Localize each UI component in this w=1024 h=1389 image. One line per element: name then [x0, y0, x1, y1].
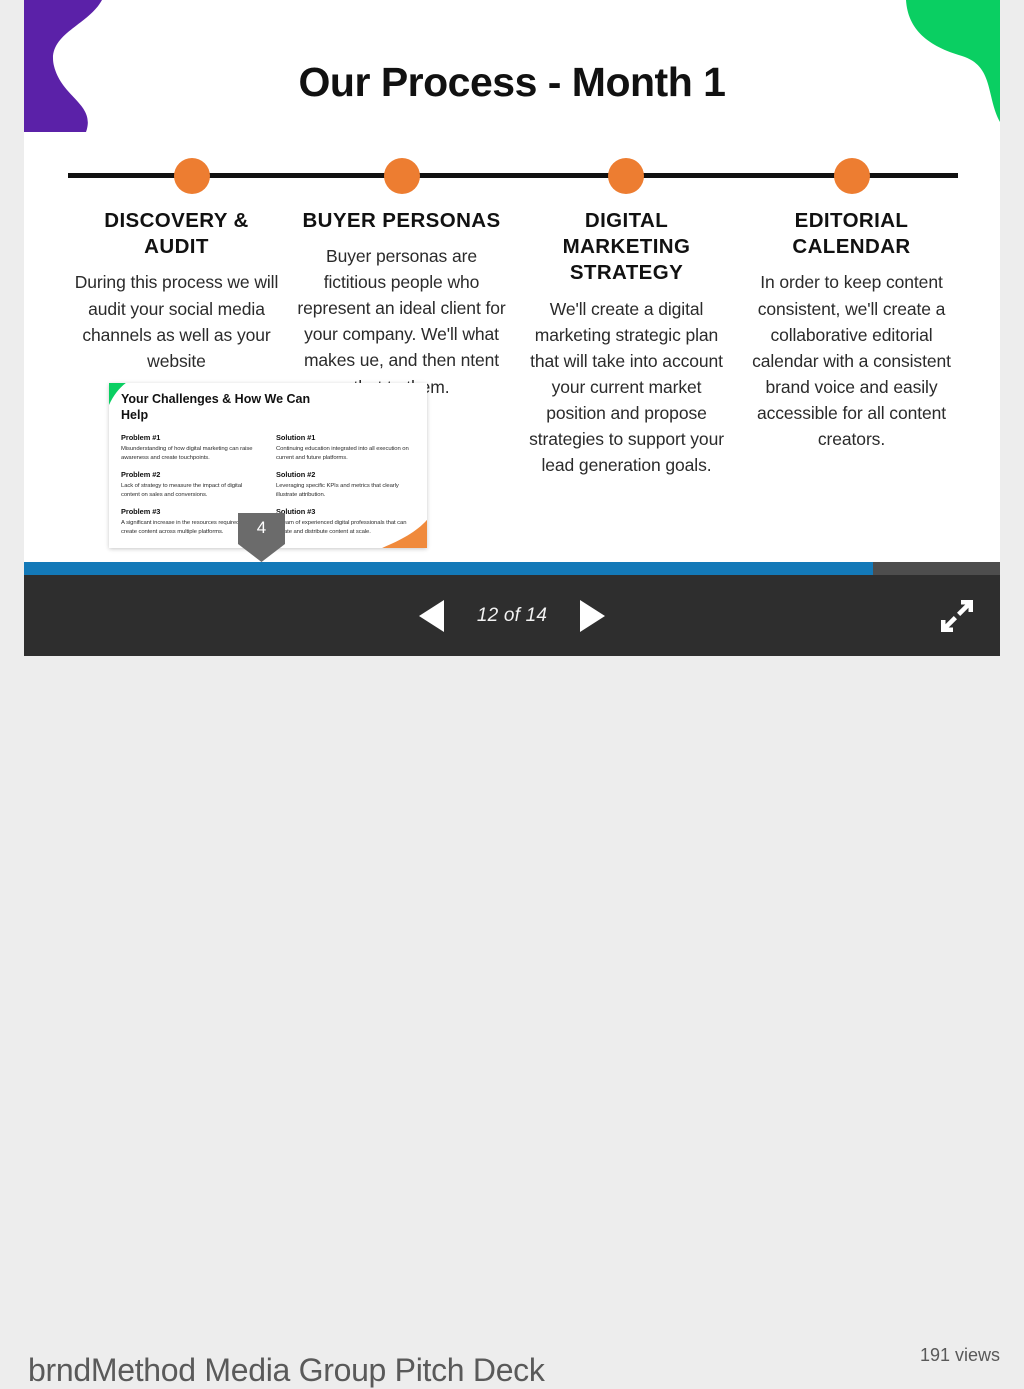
column-heading: BUYER PERSONAS [297, 208, 506, 234]
slide-title: Our Process - Month 1 [24, 60, 1000, 106]
solution-text: Continuing education integrated into all… [276, 445, 417, 463]
timeline-dot-3 [608, 158, 644, 194]
solution-text: A team of experienced digital profession… [276, 519, 417, 537]
progress-bar-track[interactable] [24, 562, 1000, 575]
column-body: In order to keep content consistent, we'… [747, 269, 956, 451]
progress-bar-fill [24, 562, 873, 575]
previous-slide-icon[interactable] [419, 600, 444, 632]
fullscreen-expand-icon [940, 599, 974, 633]
slide-navigation: 12 of 14 [24, 575, 1000, 656]
process-column-editorial-calendar: EDITORIAL CALENDAR In order to keep cont… [739, 208, 964, 478]
column-body: We'll create a digital marketing strateg… [522, 296, 731, 478]
slide-number-pin: 4 [238, 513, 285, 562]
solution-label: Solution #1 [276, 433, 417, 442]
column-heading: DIGITAL MARKETING STRATEGY [522, 208, 731, 287]
thumbnail-title: Your Challenges & How We Can Help [121, 392, 321, 424]
timeline-dot-2 [384, 158, 420, 194]
solution-label: Solution #3 [276, 507, 417, 516]
thumbnail-solutions-column: Solution #1 Continuing education integra… [276, 433, 417, 537]
problem-text: Lack of strategy to measure the impact o… [121, 482, 262, 500]
problem-text: Misunderstanding of how digital marketin… [121, 445, 262, 463]
solution-text: Leveraging specific KPIs and metrics tha… [276, 482, 417, 500]
fullscreen-button[interactable] [940, 599, 974, 633]
timeline-dot-1 [174, 158, 210, 194]
next-slide-icon[interactable] [580, 600, 605, 632]
process-column-digital-marketing-strategy: DIGITAL MARKETING STRATEGY We'll create … [514, 208, 739, 478]
timeline-dot-4 [834, 158, 870, 194]
slide-player: Our Process - Month 1 DISCOVERY & AUDIT … [24, 0, 1000, 656]
problem-label: Problem #1 [121, 433, 262, 442]
slide-canvas[interactable]: Our Process - Month 1 DISCOVERY & AUDIT … [24, 0, 1000, 562]
page-indicator: 12 of 14 [466, 605, 558, 627]
column-heading: DISCOVERY & AUDIT [72, 208, 281, 260]
player-controls-bar: 12 of 14 [24, 575, 1000, 656]
pin-number-label: 4 [238, 518, 285, 538]
column-body: Buyer personas are fictitious people who… [297, 243, 506, 399]
problem-label: Problem #2 [121, 470, 262, 479]
column-heading: EDITORIAL CALENDAR [747, 208, 956, 260]
solution-label: Solution #2 [276, 470, 417, 479]
views-count: 191 views [920, 1345, 1000, 1366]
deck-footer: brndMethod Media Group Pitch Deck 191 vi… [0, 656, 1024, 762]
column-body: During this process we will audit your s… [72, 269, 281, 373]
deck-title: brndMethod Media Group Pitch Deck [28, 1352, 545, 1389]
